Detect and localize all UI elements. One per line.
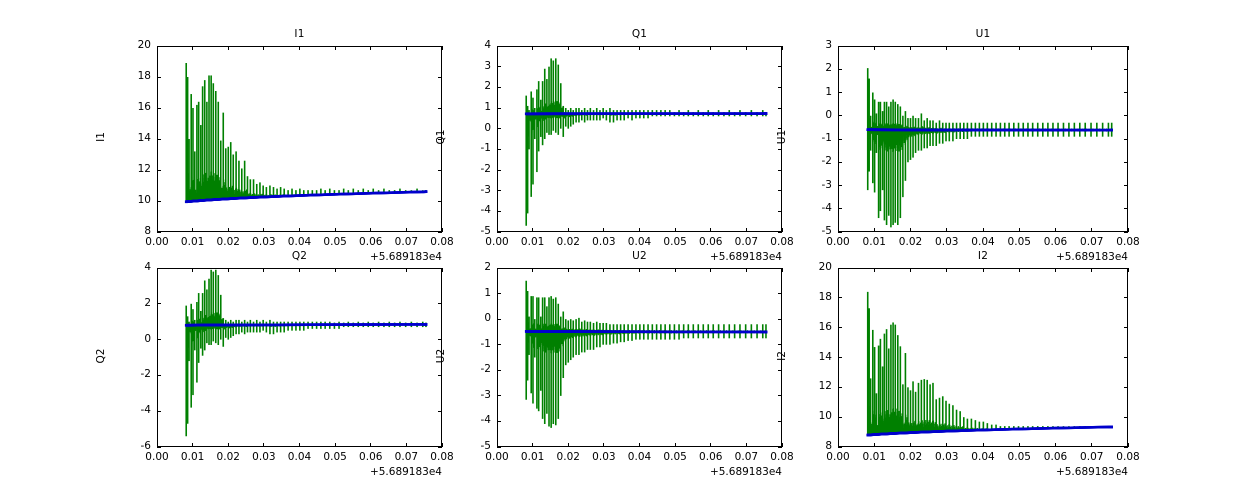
ytick-label: 20 — [792, 261, 832, 273]
ytick-mark — [157, 411, 161, 412]
ytick-mark — [838, 357, 842, 358]
xtick-mark — [497, 228, 498, 232]
xtick-mark — [370, 46, 371, 50]
ytick-label: 1 — [451, 101, 491, 113]
xtick-mark — [370, 228, 371, 232]
xtick-mark — [746, 443, 747, 447]
ytick-mark — [838, 185, 842, 186]
ytick-mark — [1124, 115, 1128, 116]
ytick-label: -2 — [451, 163, 491, 175]
xtick-label: 0.08 — [1103, 236, 1153, 248]
xtick-mark — [568, 268, 569, 272]
xtick-label: 0.04 — [275, 236, 325, 248]
ytick-mark — [497, 370, 501, 371]
x-offset-text-u1: +5.689183e4 — [1018, 251, 1128, 263]
ytick-mark — [838, 46, 842, 47]
xtick-label: 0.00 — [813, 451, 863, 463]
xtick-label: 0.00 — [132, 451, 182, 463]
xtick-mark — [1128, 228, 1129, 232]
axes-frame-i1 — [157, 46, 442, 232]
xtick-mark — [157, 228, 158, 232]
xtick-mark — [1019, 228, 1020, 232]
xtick-mark — [603, 443, 604, 447]
plot-data-q2 — [0, 0, 1250, 500]
ytick-label: 2 — [451, 80, 491, 92]
xtick-mark — [406, 228, 407, 232]
xtick-label: 0.08 — [417, 236, 467, 248]
ytick-mark — [1124, 447, 1128, 448]
xtick-mark — [1055, 228, 1056, 232]
xtick-label: 0.05 — [650, 236, 700, 248]
ytick-mark — [838, 139, 842, 140]
ytick-mark — [1124, 268, 1128, 269]
xtick-label: 0.03 — [239, 451, 289, 463]
ytick-mark — [438, 375, 442, 376]
ytick-mark — [438, 77, 442, 78]
ytick-mark — [1124, 139, 1128, 140]
ytick-mark — [497, 108, 501, 109]
x-offset-text-i2: +5.689183e4 — [1018, 466, 1128, 478]
xtick-mark — [710, 268, 711, 272]
xtick-mark — [299, 268, 300, 272]
ytick-label: -4 — [792, 202, 832, 214]
xtick-mark — [406, 46, 407, 50]
ytick-mark — [1124, 208, 1128, 209]
xtick-mark — [838, 268, 839, 272]
ytick-mark — [157, 303, 161, 304]
xtick-mark — [1091, 46, 1092, 50]
xtick-mark — [1055, 268, 1056, 272]
xtick-label: 0.00 — [472, 236, 522, 248]
ytick-mark — [497, 211, 501, 212]
ytick-mark — [778, 128, 782, 129]
xtick-label: 0.05 — [310, 451, 360, 463]
ytick-mark — [778, 190, 782, 191]
xtick-mark — [335, 443, 336, 447]
ytick-mark — [1124, 185, 1128, 186]
xtick-label: 0.01 — [508, 451, 558, 463]
ytick-mark — [157, 170, 161, 171]
ytick-mark — [778, 293, 782, 294]
xtick-mark — [946, 228, 947, 232]
ytick-mark — [497, 421, 501, 422]
ytick-label: -2 — [792, 155, 832, 167]
xtick-mark — [442, 228, 443, 232]
ytick-mark — [1124, 162, 1128, 163]
xtick-mark — [675, 443, 676, 447]
xtick-mark — [1019, 268, 1020, 272]
ytick-mark — [157, 46, 161, 47]
xtick-mark — [370, 268, 371, 272]
ytick-label: 14 — [792, 351, 832, 363]
xtick-mark — [910, 443, 911, 447]
ytick-label: 0 — [451, 312, 491, 324]
x-offset-text-i1: +5.689183e4 — [332, 251, 442, 263]
xtick-label: 0.01 — [849, 236, 899, 248]
ytick-mark — [838, 69, 842, 70]
xtick-label: 0.07 — [381, 236, 431, 248]
ytick-label: 8 — [111, 225, 151, 237]
ytick-mark — [838, 162, 842, 163]
x-offset-text-q2: +5.689183e4 — [332, 466, 442, 478]
xtick-mark — [983, 46, 984, 50]
ytick-label: -3 — [451, 389, 491, 401]
xtick-mark — [746, 268, 747, 272]
ytick-label: 8 — [792, 440, 832, 452]
ytick-mark — [778, 395, 782, 396]
xtick-label: 0.07 — [381, 451, 431, 463]
ytick-label: -3 — [451, 184, 491, 196]
ytick-label: 2 — [451, 261, 491, 273]
ytick-mark — [438, 232, 442, 233]
ytick-mark — [778, 268, 782, 269]
ytick-label: -1 — [451, 338, 491, 350]
xtick-mark — [946, 268, 947, 272]
xtick-label: 0.01 — [508, 236, 558, 248]
ytick-label: 10 — [111, 194, 151, 206]
xtick-mark — [192, 268, 193, 272]
ytick-mark — [778, 370, 782, 371]
ytick-mark — [778, 319, 782, 320]
ytick-label: 3 — [792, 39, 832, 51]
xtick-mark — [910, 46, 911, 50]
xtick-label: 0.03 — [239, 236, 289, 248]
xtick-mark — [838, 46, 839, 50]
ytick-mark — [438, 170, 442, 171]
xtick-mark — [335, 268, 336, 272]
ytick-label: 14 — [111, 132, 151, 144]
ytick-mark — [497, 344, 501, 345]
ytick-mark — [438, 139, 442, 140]
xtick-label: 0.02 — [886, 236, 936, 248]
xtick-mark — [838, 228, 839, 232]
ytick-mark — [497, 395, 501, 396]
ytick-label: -5 — [451, 440, 491, 452]
xtick-label: 0.04 — [275, 451, 325, 463]
xtick-mark — [946, 46, 947, 50]
xtick-label: 0.06 — [686, 236, 736, 248]
panel-q2: Q2-6-4-20240.000.010.020.030.040.050.060… — [0, 0, 1250, 500]
ytick-mark — [438, 46, 442, 47]
ytick-mark — [497, 293, 501, 294]
xtick-label: 0.08 — [417, 451, 467, 463]
ytick-mark — [438, 108, 442, 109]
ytick-mark — [157, 339, 161, 340]
ytick-mark — [778, 87, 782, 88]
panel-i1: I181012141618200.000.010.020.030.040.050… — [0, 0, 1250, 500]
ytick-mark — [1124, 417, 1128, 418]
xtick-mark — [442, 46, 443, 50]
xtick-mark — [874, 228, 875, 232]
xtick-label: 0.00 — [472, 451, 522, 463]
figure-canvas: I181012141618200.000.010.020.030.040.050… — [0, 0, 1250, 500]
ytick-mark — [1124, 327, 1128, 328]
ytick-mark — [1124, 92, 1128, 93]
ytick-mark — [497, 190, 501, 191]
xtick-mark — [639, 46, 640, 50]
ytick-mark — [778, 421, 782, 422]
ytick-label: -1 — [792, 132, 832, 144]
xtick-mark — [1019, 443, 1020, 447]
xtick-mark — [983, 268, 984, 272]
xtick-mark — [675, 228, 676, 232]
xtick-mark — [946, 443, 947, 447]
ytick-mark — [497, 87, 501, 88]
xtick-label: 0.06 — [686, 451, 736, 463]
ytick-label: -4 — [111, 404, 151, 416]
xtick-mark — [1091, 268, 1092, 272]
xtick-mark — [838, 443, 839, 447]
ytick-mark — [778, 232, 782, 233]
plot-data-u2 — [0, 0, 1250, 500]
xtick-mark — [782, 228, 783, 232]
xtick-label: 0.02 — [203, 451, 253, 463]
ytick-label: 10 — [792, 410, 832, 422]
xtick-mark — [532, 268, 533, 272]
xtick-mark — [568, 443, 569, 447]
ytick-mark — [497, 447, 501, 448]
ytick-label: -5 — [792, 225, 832, 237]
ytick-mark — [1124, 232, 1128, 233]
ytick-label: -2 — [451, 363, 491, 375]
ytick-mark — [497, 149, 501, 150]
ytick-mark — [157, 447, 161, 448]
ytick-label: 16 — [111, 101, 151, 113]
ytick-mark — [438, 201, 442, 202]
ylabel-q1: Q1 — [435, 97, 447, 177]
ytick-mark — [778, 344, 782, 345]
panel-title-i2: I2 — [838, 250, 1128, 262]
xtick-label: 0.06 — [346, 451, 396, 463]
xtick-mark — [1055, 443, 1056, 447]
xtick-mark — [910, 228, 911, 232]
xtick-mark — [782, 46, 783, 50]
ytick-mark — [438, 303, 442, 304]
xtick-mark — [228, 228, 229, 232]
xtick-mark — [263, 46, 264, 50]
ytick-label: 16 — [792, 321, 832, 333]
ytick-label: -2 — [111, 368, 151, 380]
ytick-label: -4 — [451, 414, 491, 426]
xtick-label: 0.00 — [132, 236, 182, 248]
ytick-mark — [1124, 69, 1128, 70]
ytick-label: 1 — [451, 287, 491, 299]
xtick-label: 0.01 — [168, 451, 218, 463]
panel-u1: U1-5-4-3-2-101230.000.010.020.030.040.05… — [0, 0, 1250, 500]
xtick-mark — [710, 228, 711, 232]
ytick-mark — [838, 92, 842, 93]
panel-title-i1: I1 — [157, 28, 442, 40]
xtick-mark — [1019, 46, 1020, 50]
xtick-mark — [603, 46, 604, 50]
xtick-label: 0.07 — [721, 236, 771, 248]
ytick-label: 4 — [451, 39, 491, 51]
ytick-mark — [838, 447, 842, 448]
xtick-label: 0.01 — [168, 236, 218, 248]
xtick-mark — [782, 268, 783, 272]
xtick-label: 0.08 — [1103, 451, 1153, 463]
ylabel-u2: U2 — [435, 316, 447, 396]
plot-data-u1 — [0, 0, 1250, 500]
ytick-label: 0 — [111, 333, 151, 345]
axes-frame-q1 — [497, 46, 782, 232]
ytick-mark — [778, 108, 782, 109]
ytick-mark — [157, 139, 161, 140]
xtick-mark — [675, 46, 676, 50]
xtick-mark — [1128, 46, 1129, 50]
ytick-mark — [497, 268, 501, 269]
xtick-label: 0.06 — [1031, 451, 1081, 463]
ytick-label: 12 — [792, 380, 832, 392]
ytick-mark — [157, 375, 161, 376]
ytick-label: 2 — [792, 62, 832, 74]
axes-frame-q2 — [157, 268, 442, 447]
xtick-mark — [157, 443, 158, 447]
xtick-mark — [983, 228, 984, 232]
xtick-label: 0.07 — [1067, 236, 1117, 248]
xtick-mark — [710, 46, 711, 50]
xtick-mark — [299, 46, 300, 50]
xtick-mark — [746, 228, 747, 232]
axes-frame-i2 — [838, 268, 1128, 447]
xtick-label: 0.04 — [615, 236, 665, 248]
xtick-label: 0.08 — [757, 451, 807, 463]
xtick-mark — [263, 228, 264, 232]
xtick-mark — [406, 268, 407, 272]
ytick-label: 2 — [111, 297, 151, 309]
ylabel-q2: Q2 — [95, 316, 107, 396]
ytick-label: -5 — [451, 225, 491, 237]
xtick-mark — [263, 443, 264, 447]
ytick-label: 20 — [111, 39, 151, 51]
xtick-mark — [263, 268, 264, 272]
xtick-label: 0.05 — [310, 236, 360, 248]
xtick-mark — [568, 46, 569, 50]
xtick-mark — [228, 46, 229, 50]
axes-frame-u1 — [838, 46, 1128, 232]
ytick-mark — [497, 66, 501, 67]
ytick-mark — [838, 232, 842, 233]
ytick-mark — [157, 232, 161, 233]
xtick-label: 0.07 — [1067, 451, 1117, 463]
xtick-mark — [406, 443, 407, 447]
ylabel-u1: U1 — [776, 97, 788, 177]
xtick-label: 0.04 — [615, 451, 665, 463]
xtick-mark — [192, 228, 193, 232]
xtick-mark — [157, 46, 158, 50]
ytick-mark — [497, 46, 501, 47]
xtick-label: 0.03 — [922, 451, 972, 463]
xtick-label: 0.00 — [813, 236, 863, 248]
ytick-mark — [838, 268, 842, 269]
ytick-mark — [497, 232, 501, 233]
ytick-mark — [778, 447, 782, 448]
xtick-mark — [335, 228, 336, 232]
ytick-mark — [778, 46, 782, 47]
xtick-mark — [603, 228, 604, 232]
ytick-label: 3 — [451, 60, 491, 72]
xtick-mark — [299, 228, 300, 232]
xtick-label: 0.06 — [346, 236, 396, 248]
ytick-label: 1 — [792, 86, 832, 98]
ytick-mark — [157, 201, 161, 202]
ytick-mark — [497, 319, 501, 320]
ytick-mark — [838, 115, 842, 116]
xtick-mark — [228, 268, 229, 272]
ytick-mark — [157, 108, 161, 109]
ytick-mark — [838, 208, 842, 209]
xtick-label: 0.07 — [721, 451, 771, 463]
xtick-mark — [497, 268, 498, 272]
ytick-label: 18 — [792, 291, 832, 303]
x-offset-text-u2: +5.689183e4 — [672, 466, 782, 478]
xtick-mark — [675, 268, 676, 272]
ytick-mark — [438, 268, 442, 269]
xtick-mark — [1091, 443, 1092, 447]
xtick-mark — [710, 443, 711, 447]
ytick-mark — [778, 66, 782, 67]
xtick-mark — [639, 268, 640, 272]
xtick-label: 0.04 — [958, 236, 1008, 248]
ytick-mark — [1124, 357, 1128, 358]
xtick-label: 0.02 — [886, 451, 936, 463]
ytick-mark — [778, 170, 782, 171]
ytick-mark — [438, 339, 442, 340]
ylabel-i2: I2 — [776, 316, 788, 396]
panel-u2: U2-5-4-3-2-10120.000.010.020.030.040.050… — [0, 0, 1250, 500]
ytick-mark — [778, 211, 782, 212]
ytick-mark — [1124, 297, 1128, 298]
xtick-mark — [568, 228, 569, 232]
xtick-label: 0.06 — [1031, 236, 1081, 248]
xtick-label: 0.02 — [543, 451, 593, 463]
panel-title-u1: U1 — [838, 28, 1128, 40]
ytick-label: 0 — [451, 122, 491, 134]
ytick-mark — [1124, 46, 1128, 47]
xtick-label: 0.02 — [543, 236, 593, 248]
xtick-mark — [874, 268, 875, 272]
xtick-mark — [874, 46, 875, 50]
panel-title-u2: U2 — [497, 250, 782, 262]
xtick-mark — [442, 268, 443, 272]
plot-data-q1 — [0, 0, 1250, 500]
ytick-mark — [838, 327, 842, 328]
xtick-mark — [532, 46, 533, 50]
panel-i2: I281012141618200.000.010.020.030.040.050… — [0, 0, 1250, 500]
x-offset-text-q1: +5.689183e4 — [672, 251, 782, 263]
plot-data-i2 — [0, 0, 1250, 500]
ytick-mark — [838, 387, 842, 388]
ytick-mark — [438, 447, 442, 448]
xtick-mark — [532, 228, 533, 232]
xtick-mark — [910, 268, 911, 272]
ytick-mark — [497, 170, 501, 171]
ytick-label: -4 — [451, 204, 491, 216]
xtick-mark — [228, 443, 229, 447]
xtick-mark — [603, 268, 604, 272]
xtick-mark — [497, 46, 498, 50]
xtick-mark — [497, 443, 498, 447]
ytick-label: 4 — [111, 261, 151, 273]
xtick-mark — [157, 268, 158, 272]
xtick-mark — [335, 46, 336, 50]
axes-frame-u2 — [497, 268, 782, 447]
xtick-mark — [1055, 46, 1056, 50]
xtick-mark — [746, 46, 747, 50]
panel-q1: Q1-5-4-3-2-1012340.000.010.020.030.040.0… — [0, 0, 1250, 500]
xtick-mark — [782, 443, 783, 447]
xtick-mark — [1091, 228, 1092, 232]
